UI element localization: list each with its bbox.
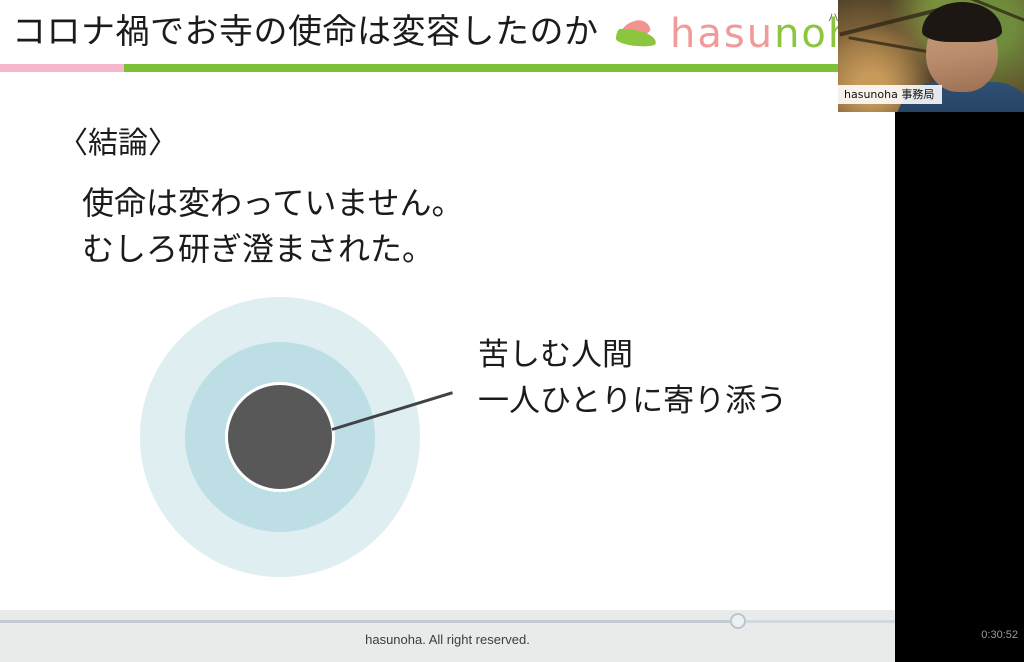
body-line-1: 使命は変わっていません。	[82, 180, 463, 226]
concentric-circles-diagram	[140, 297, 420, 577]
logo-word-primary: hasu	[670, 11, 774, 57]
presentation-slide: コロナ禍でお寺の使命は変容したのか hasunoha ハスノハ 〈結論〉 使命は…	[0, 0, 895, 610]
conclusion-label: 〈結論〉	[58, 124, 178, 164]
player-bottom-bar: hasunoha. All right reserved.	[0, 610, 895, 662]
footer-credit: hasunoha. All right reserved.	[0, 632, 895, 647]
leaf-green-shape	[615, 29, 656, 48]
diagram-inner-circle	[228, 385, 332, 489]
annotation-line-1: 苦しむ人間	[478, 332, 787, 378]
webcam-participant-label: hasunoha 事務局	[838, 85, 942, 104]
slide-header: コロナ禍でお寺の使命は変容したのか hasunoha ハスノハ	[0, 0, 895, 72]
body-line-2: むしろ研ぎ澄まされた。	[82, 226, 463, 272]
diagram-annotation: 苦しむ人間 一人ひとりに寄り添う	[478, 332, 787, 424]
slide-body-text: 使命は変わっていません。 むしろ研ぎ澄まされた。	[82, 180, 463, 272]
header-rule-green	[124, 64, 838, 72]
annotation-line-2: 一人ひとりに寄り添う	[478, 378, 787, 424]
slide-title: コロナ禍でお寺の使命は変容したのか	[12, 8, 599, 56]
header-rule-pink	[0, 64, 124, 72]
elapsed-time-readout: 0:30:52	[981, 628, 1018, 642]
screen-capture-root: コロナ禍でお寺の使命は変容したのか hasunoha ハスノハ 〈結論〉 使命は…	[0, 0, 1024, 662]
seek-bar-handle[interactable]	[730, 613, 746, 629]
lotus-leaf-icon	[614, 19, 662, 49]
seek-bar-progress[interactable]	[0, 620, 738, 623]
webcam-video-tile[interactable]: hasunoha 事務局	[838, 0, 1024, 112]
